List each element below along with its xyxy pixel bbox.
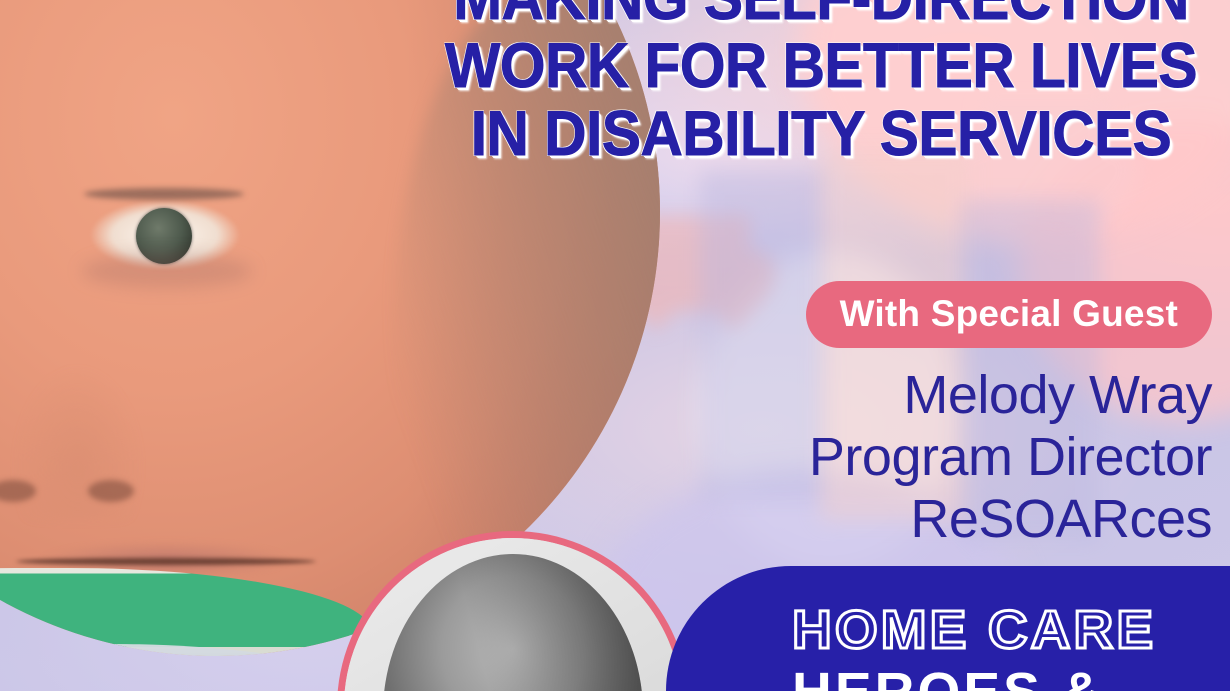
headline-line-3: IN DISABILITY SERVICES — [441, 100, 1202, 168]
page-title: MAKING SELF-DIRECTION WORK FOR BETTER LI… — [412, 0, 1230, 168]
headline-line-1: MAKING SELF-DIRECTION — [441, 0, 1202, 32]
webinar-promo-poster: MAKING SELF-DIRECTION WORK FOR BETTER LI… — [0, 0, 1230, 691]
eyelid-right — [84, 188, 244, 200]
show-title-line-1: HOME CARE — [792, 603, 1156, 657]
nostril-right — [88, 480, 134, 502]
lip-line — [16, 558, 316, 565]
guest-info-block: With Special Guest Melody Wray Program D… — [782, 281, 1212, 550]
guest-portrait-photo — [337, 531, 689, 691]
guest-badge: With Special Guest — [806, 281, 1212, 348]
undereye-right — [82, 254, 252, 288]
guest-role: Program Director — [782, 426, 1212, 488]
show-title-line-2: HEROES & — [792, 665, 1104, 691]
guest-portrait-image — [344, 538, 682, 691]
show-title-panel: HOME CARE HEROES & — [666, 566, 1230, 691]
guest-organization: ReSOARces — [782, 488, 1212, 550]
headline-line-2: WORK FOR BETTER LIVES — [441, 32, 1202, 100]
guest-name: Melody Wray — [782, 364, 1212, 426]
guest-details: Melody Wray Program Director ReSOARces — [782, 364, 1212, 550]
